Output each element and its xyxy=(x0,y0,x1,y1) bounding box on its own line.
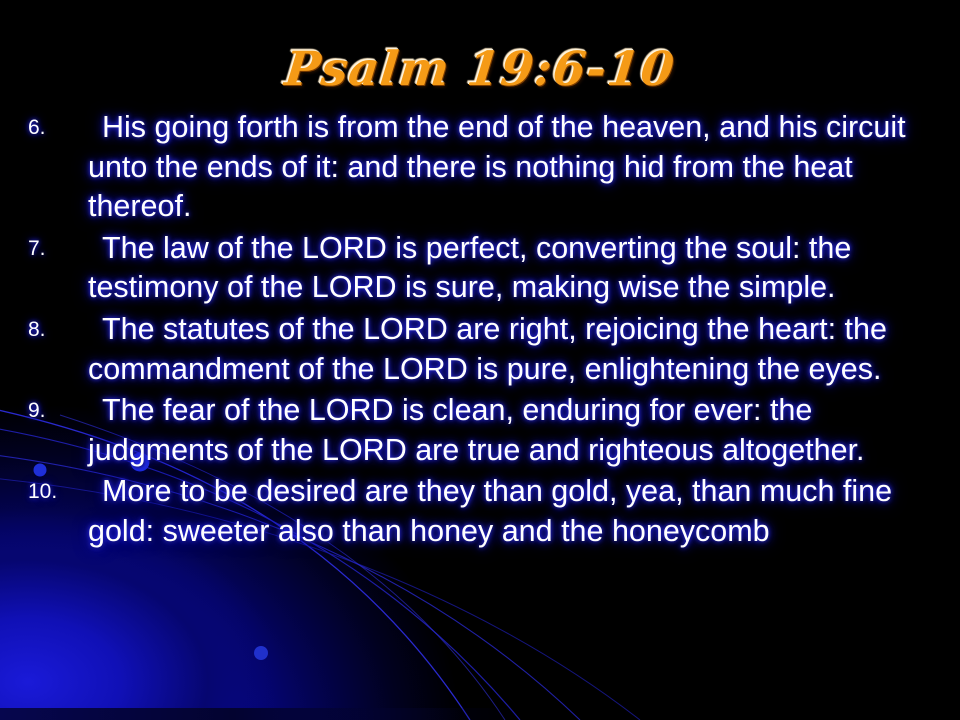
verse-list: 6.His going forth is from the end of the… xyxy=(22,108,938,554)
verse-number: 8. xyxy=(22,310,88,350)
verse-text: His going forth is from the end of the h… xyxy=(88,108,938,227)
presentation-slide: Psalm 19:6-10 6.His going forth is from … xyxy=(0,0,960,720)
verse-text: More to be desired are they than gold, y… xyxy=(88,472,938,551)
verse-number: 7. xyxy=(22,229,88,269)
list-item: 9.The fear of the LORD is clean, endurin… xyxy=(22,391,938,470)
verse-text: The statutes of the LORD are right, rejo… xyxy=(88,310,938,389)
list-item: 7.The law of the LORD is perfect, conver… xyxy=(22,229,938,308)
list-item: 10.More to be desired are they than gold… xyxy=(22,472,938,551)
list-item: 6.His going forth is from the end of the… xyxy=(22,108,938,227)
verse-number: 9. xyxy=(22,391,88,431)
background-bottom-band xyxy=(0,708,520,720)
page-title: Psalm 19:6-10 xyxy=(282,42,677,97)
verse-number: 6. xyxy=(22,108,88,148)
title-container: Psalm 19:6-10 xyxy=(0,42,960,97)
decorative-dot xyxy=(254,646,268,660)
verse-text: The law of the LORD is perfect, converti… xyxy=(88,229,938,308)
verse-number: 10. xyxy=(22,472,88,512)
verse-text: The fear of the LORD is clean, enduring … xyxy=(88,391,938,470)
list-item: 8.The statutes of the LORD are right, re… xyxy=(22,310,938,389)
